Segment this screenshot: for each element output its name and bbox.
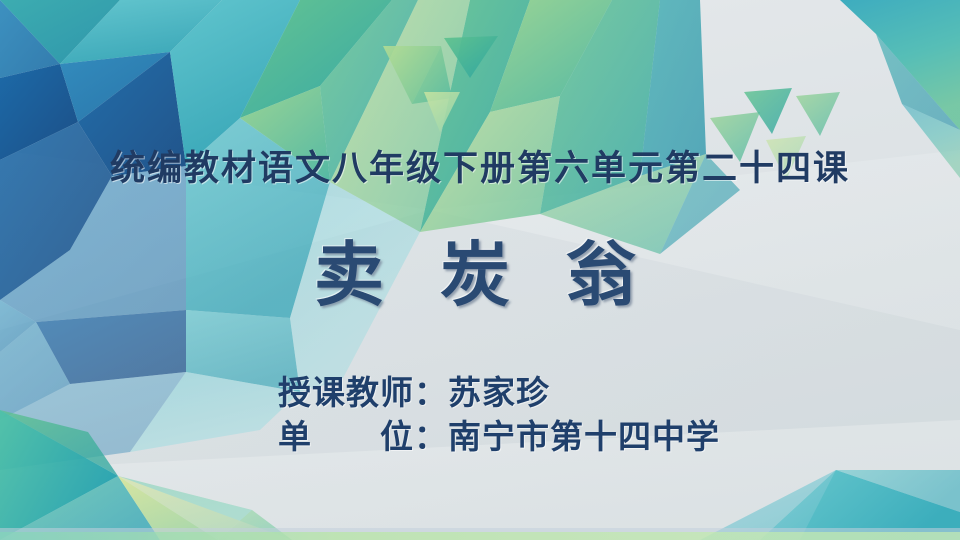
title-char-1: 卖	[314, 238, 394, 315]
credits-block: 授课教师：苏家珍 单 位：南宁市第十四中学	[278, 372, 918, 460]
school-line: 单 位：南宁市第十四中学	[278, 416, 918, 460]
title-char-3: 翁	[566, 238, 646, 315]
slide-main-title: 卖炭翁	[0, 234, 960, 320]
presentation-slide: 统编教材语文八年级下册第六单元第二十四课 卖炭翁 授课教师：苏家珍 单 位：南宁…	[0, 0, 960, 540]
slide-text-layer: 统编教材语文八年级下册第六单元第二十四课 卖炭翁 授课教师：苏家珍 单 位：南宁…	[0, 0, 960, 540]
teacher-line: 授课教师：苏家珍	[278, 372, 918, 416]
title-char-2: 炭	[440, 238, 520, 315]
slide-subtitle: 统编教材语文八年级下册第六单元第二十四课	[0, 146, 960, 192]
